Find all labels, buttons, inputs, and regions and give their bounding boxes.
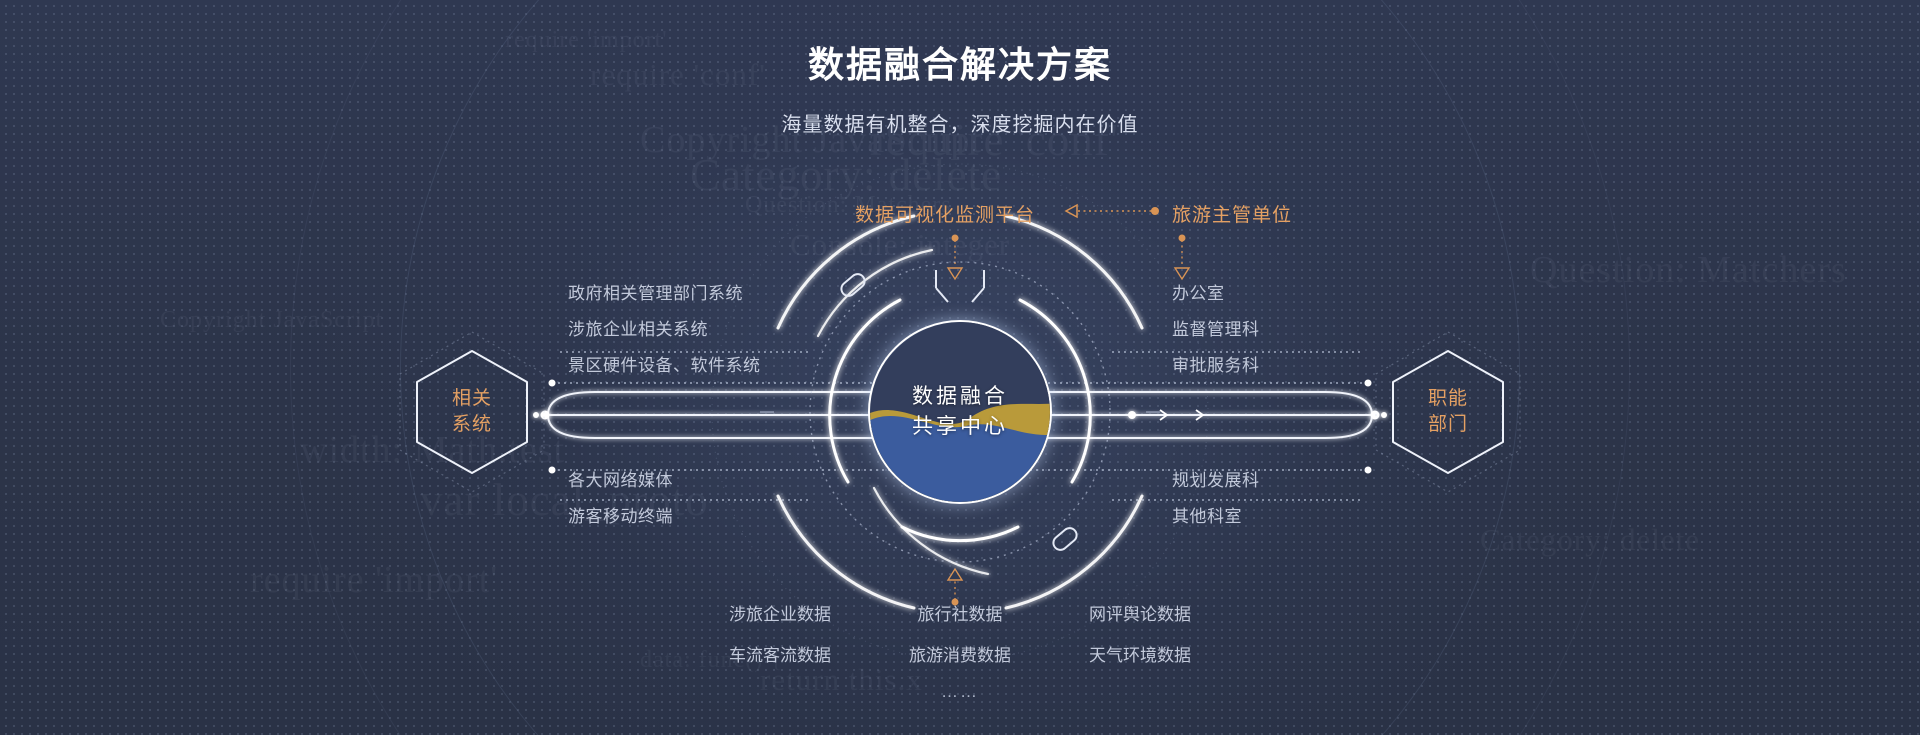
left-item-network-media[interactable]: 各大网络媒体	[568, 466, 673, 491]
left-item-gov-systems[interactable]: 政府相关管理部门系统	[568, 279, 743, 304]
right-hexagon-functional-depts[interactable]: 职能 部门	[1390, 348, 1506, 476]
core-line-1: 数据融合	[912, 382, 1008, 412]
header-block: 数据融合解决方案 海量数据有机整合，深度挖掘内在价值	[0, 36, 1920, 137]
left-hexagon-line-1: 相关	[452, 386, 492, 412]
center-core: 数据融合 共享中心	[868, 320, 1052, 504]
bottom-item-weather-environment-data[interactable]: 天气环境数据	[1073, 641, 1207, 666]
bottom-item-travel-agency-data[interactable]: 旅行社数据	[893, 600, 1027, 625]
left-hexagon-text: 相关 系统	[452, 386, 492, 438]
left-item-tourism-enterprise-systems[interactable]: 涉旅企业相关系统	[568, 315, 708, 340]
bottom-data-sources: 涉旅企业数据 旅行社数据 网评舆论数据 车流客流数据 旅游消费数据 天气环境数据…	[713, 600, 1207, 702]
right-hexagon-line-2: 部门	[1428, 412, 1468, 438]
center-core-text: 数据融合 共享中心	[912, 382, 1008, 442]
bottom-ellipsis: ……	[713, 682, 1207, 702]
label-visualization-platform[interactable]: 数据可视化监测平台	[855, 200, 1035, 227]
bottom-item-tourism-consumption-data[interactable]: 旅游消费数据	[893, 641, 1027, 666]
page-title: 数据融合解决方案	[0, 36, 1920, 88]
left-item-tourist-mobile-terminal[interactable]: 游客移动终端	[568, 502, 673, 527]
left-item-scenic-hardware-software[interactable]: 景区硬件设备、软件系统	[568, 351, 761, 376]
bottom-item-enterprise-data[interactable]: 涉旅企业数据	[713, 600, 847, 625]
bottom-row-2: 车流客流数据 旅游消费数据 天气环境数据	[713, 641, 1207, 666]
center-hud: 数据融合 共享中心	[700, 152, 1220, 672]
bottom-item-online-review-data[interactable]: 网评舆论数据	[1073, 600, 1207, 625]
core-line-2: 共享中心	[912, 412, 1008, 442]
right-item-other-depts[interactable]: 其他科室	[1172, 502, 1242, 527]
right-hexagon-line-1: 职能	[1428, 386, 1468, 412]
bottom-item-traffic-flow-data[interactable]: 车流客流数据	[713, 641, 847, 666]
page-subtitle: 海量数据有机整合，深度挖掘内在价值	[0, 108, 1920, 137]
right-item-supervision-dept[interactable]: 监督管理科	[1172, 315, 1260, 340]
left-hexagon-line-2: 系统	[452, 412, 492, 438]
bottom-row-1: 涉旅企业数据 旅行社数据 网评舆论数据	[713, 600, 1207, 625]
right-item-office[interactable]: 办公室	[1172, 279, 1225, 304]
left-hexagon-related-systems[interactable]: 相关 系统	[414, 348, 530, 476]
right-hexagon-text: 职能 部门	[1428, 386, 1468, 438]
right-item-planning-dev-dept[interactable]: 规划发展科	[1172, 466, 1260, 491]
label-tourism-authority[interactable]: 旅游主管单位	[1172, 200, 1292, 227]
right-item-approval-service-dept[interactable]: 审批服务科	[1172, 351, 1260, 376]
